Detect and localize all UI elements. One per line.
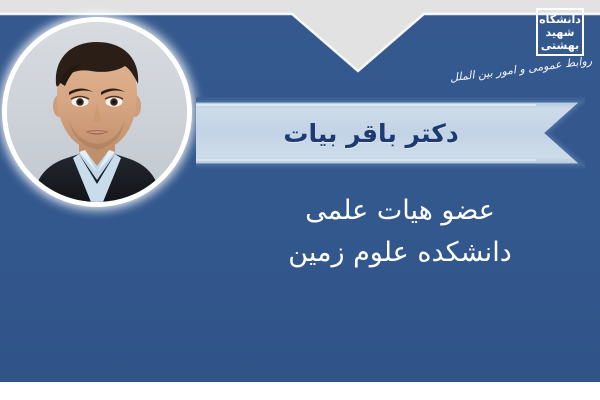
- faculty-title-block: عضو هیات علمی دانشکده علوم زمین: [210, 190, 590, 274]
- logo-emblem-box: دانشگاه شهید بهشتی: [536, 8, 584, 56]
- faculty-title-line-1: عضو هیات علمی: [210, 190, 590, 232]
- logo-word-2: شهید: [546, 26, 575, 39]
- faculty-title-line-2: دانشکده علوم زمین: [210, 232, 590, 274]
- profile-banner-card: دکتر باقر بیات عضو هیات علمی دانشکده علو…: [0, 0, 600, 400]
- faculty-name: دکتر باقر بیات: [196, 96, 546, 170]
- university-logo: دانشگاه شهید بهشتی روابط عمومی و امور بی…: [470, 4, 596, 88]
- avatar-image: [7, 22, 187, 202]
- logo-word-1: دانشگاه: [539, 13, 581, 26]
- name-ribbon: دکتر باقر بیات: [196, 96, 585, 170]
- avatar: [2, 17, 192, 207]
- logo-word-3: بهشتی: [541, 39, 579, 52]
- logo-department-script: روابط عمومی و امور بین الملل: [474, 54, 593, 82]
- bottom-white-margin: [0, 382, 600, 400]
- portrait-illustration: [7, 22, 187, 202]
